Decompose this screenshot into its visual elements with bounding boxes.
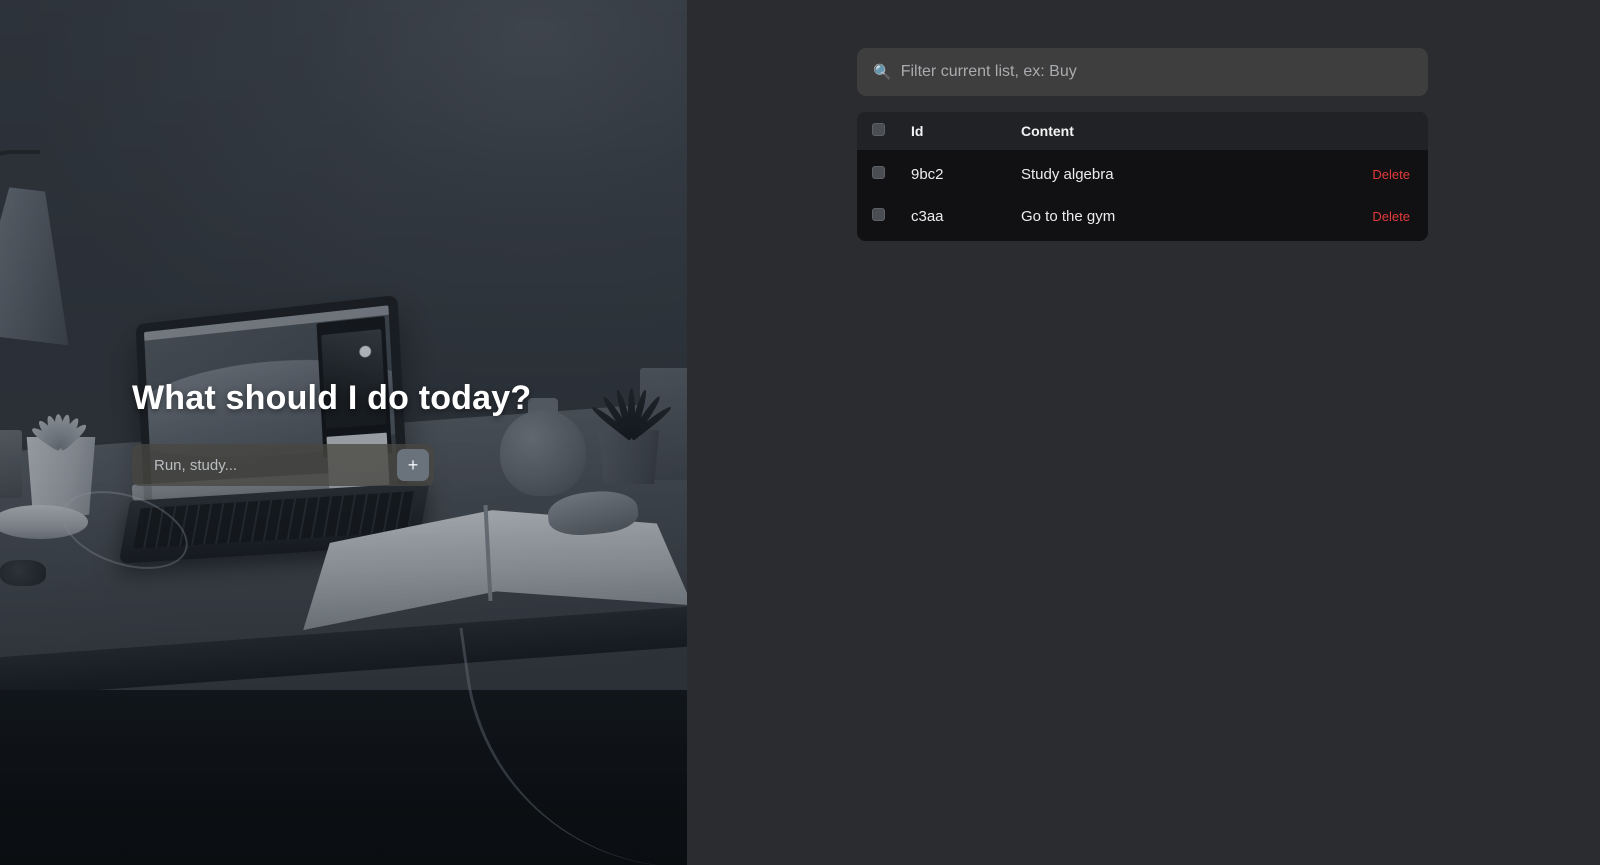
table-header-row: Id Content bbox=[857, 112, 1428, 150]
delete-link[interactable]: Delete bbox=[1372, 209, 1410, 224]
row-select-cell bbox=[857, 150, 911, 199]
app-root: What should I do today? + 🔍 Id bbox=[0, 0, 1600, 865]
todo-table: Id Content 9bc2 Study algebra Delete bbox=[857, 112, 1428, 241]
row-action-cell: Delete bbox=[1338, 199, 1428, 241]
row-select-cell bbox=[857, 199, 911, 241]
content-header: Content bbox=[1021, 112, 1338, 150]
table-body: 9bc2 Study algebra Delete c3aa Go to the… bbox=[857, 150, 1428, 241]
hero-content: What should I do today? + bbox=[0, 0, 687, 865]
id-header: Id bbox=[911, 112, 1021, 150]
row-id: 9bc2 bbox=[911, 150, 1021, 199]
row-checkbox[interactable] bbox=[872, 166, 885, 179]
select-all-checkbox[interactable] bbox=[872, 123, 885, 136]
row-checkbox[interactable] bbox=[872, 208, 885, 221]
list-panel: 🔍 Id Content bbox=[687, 0, 1600, 865]
table-head: Id Content bbox=[857, 112, 1428, 150]
add-task-button[interactable]: + bbox=[397, 449, 429, 481]
delete-link[interactable]: Delete bbox=[1372, 167, 1410, 182]
row-action-cell: Delete bbox=[1338, 150, 1428, 199]
filter-input[interactable] bbox=[901, 48, 1412, 96]
page-title: What should I do today? bbox=[132, 379, 687, 418]
action-header bbox=[1338, 112, 1428, 150]
hero-panel: What should I do today? + bbox=[0, 0, 687, 865]
search-icon: 🔍 bbox=[873, 65, 892, 80]
filter-field[interactable]: 🔍 bbox=[857, 48, 1428, 96]
row-id: c3aa bbox=[911, 199, 1021, 241]
select-all-header bbox=[857, 112, 911, 150]
add-task-input[interactable] bbox=[132, 444, 397, 486]
todo-table-card: Id Content 9bc2 Study algebra Delete bbox=[857, 112, 1428, 241]
row-content: Study algebra bbox=[1021, 150, 1338, 199]
add-task-form: + bbox=[132, 444, 434, 486]
table-row: 9bc2 Study algebra Delete bbox=[857, 150, 1428, 199]
row-content: Go to the gym bbox=[1021, 199, 1338, 241]
table-row: c3aa Go to the gym Delete bbox=[857, 199, 1428, 241]
